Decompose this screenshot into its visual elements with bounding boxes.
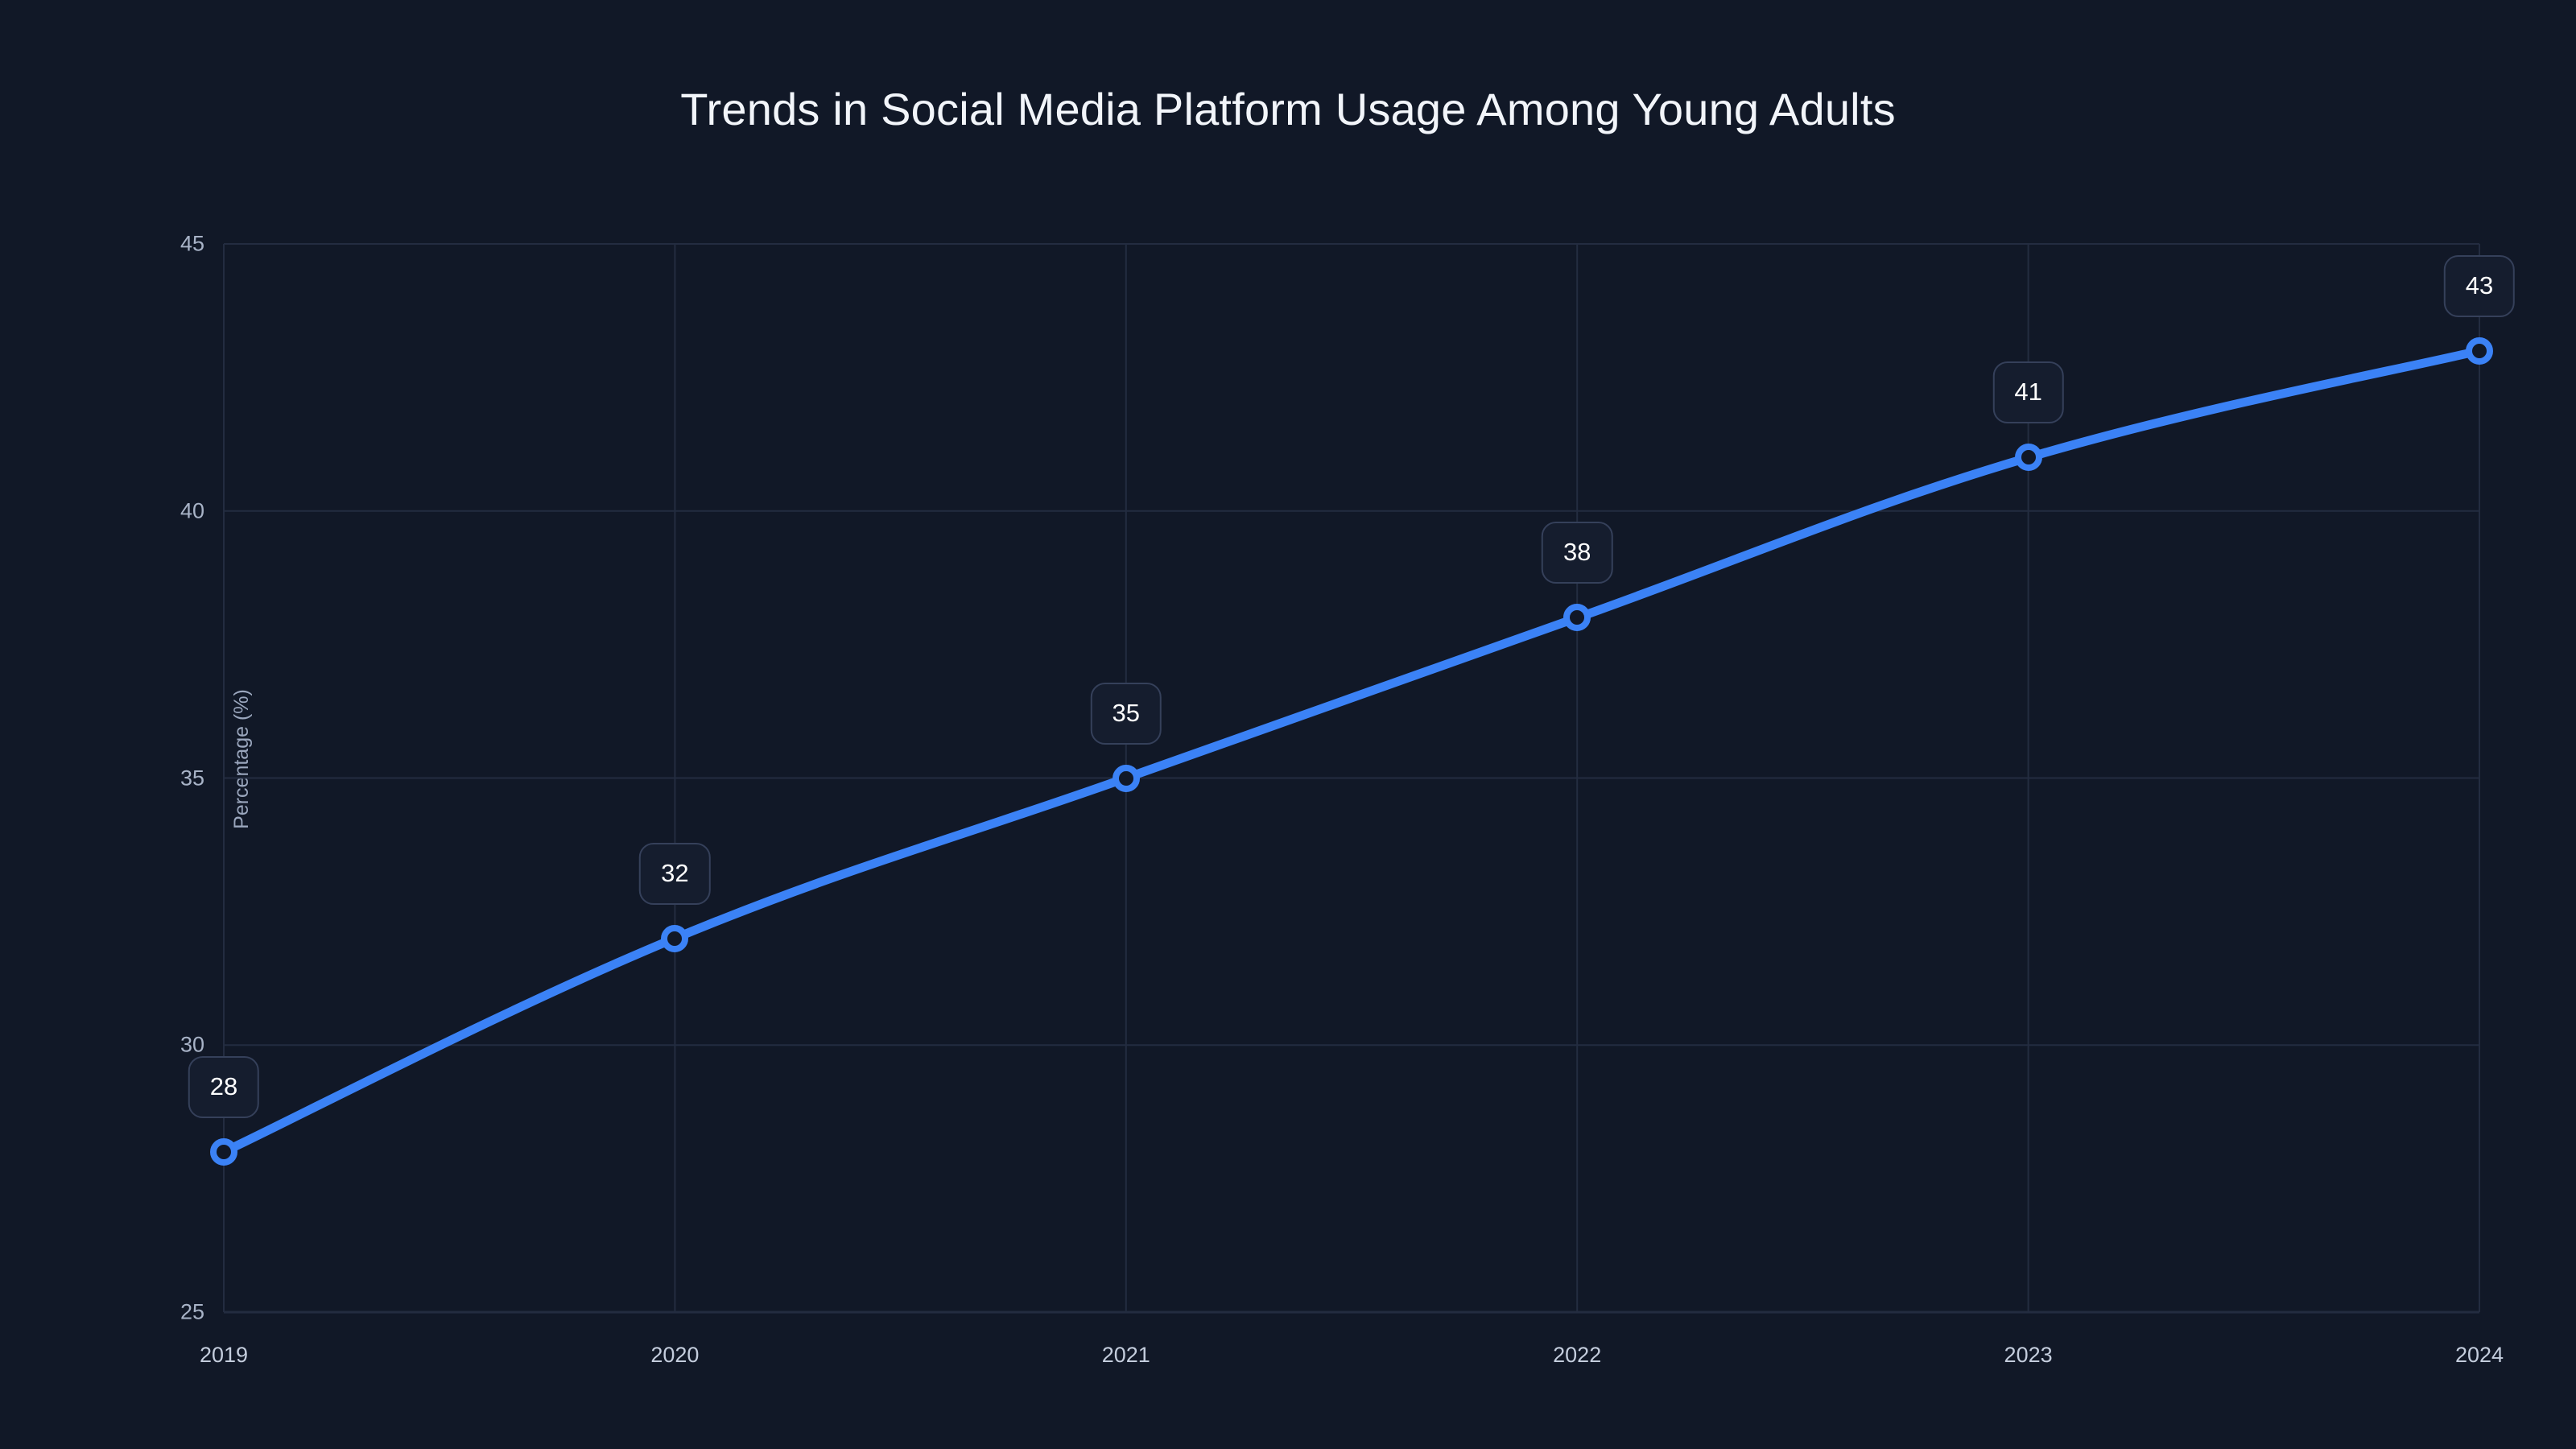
horizontal-gridlines — [224, 244, 2479, 1312]
chart-title: Trends in Social Media Platform Usage Am… — [0, 87, 2576, 132]
x-axis-tick-label: 2022 — [1553, 1343, 1601, 1368]
y-axis-tick-label: 30 — [180, 1033, 204, 1058]
data-value-label: 28 — [188, 1056, 259, 1118]
data-point-marker[interactable] — [1113, 765, 1140, 792]
data-point-marker[interactable] — [2466, 337, 2493, 365]
data-value-label: 35 — [1091, 683, 1162, 745]
plot-area: Percentage (%) 2530354045 20192020202120… — [224, 244, 2479, 1312]
data-value-label: 32 — [639, 843, 710, 905]
data-value-label: 38 — [1542, 522, 1612, 584]
y-axis-tick-label: 35 — [180, 766, 204, 791]
x-axis-tick-label: 2023 — [2004, 1343, 2053, 1368]
x-axis-tick-label: 2019 — [200, 1343, 248, 1368]
y-axis-tick-label: 40 — [180, 498, 204, 523]
y-axis-tick-label: 45 — [180, 232, 204, 257]
y-axis-tick-label: 25 — [180, 1300, 204, 1325]
chart-container: Trends in Social Media Platform Usage Am… — [0, 0, 2576, 1449]
data-value-label: 41 — [1992, 361, 2063, 423]
x-axis-tick-label: 2021 — [1102, 1343, 1150, 1368]
plot-svg — [224, 244, 2479, 1312]
series-line-path — [224, 351, 2479, 1152]
data-point-marker[interactable] — [210, 1138, 237, 1166]
data-value-label: 43 — [2444, 255, 2515, 317]
x-axis-tick-label: 2020 — [650, 1343, 699, 1368]
data-point-marker[interactable] — [661, 925, 688, 952]
data-point-marker[interactable] — [2015, 444, 2042, 471]
x-axis-tick-label: 2024 — [2455, 1343, 2504, 1368]
